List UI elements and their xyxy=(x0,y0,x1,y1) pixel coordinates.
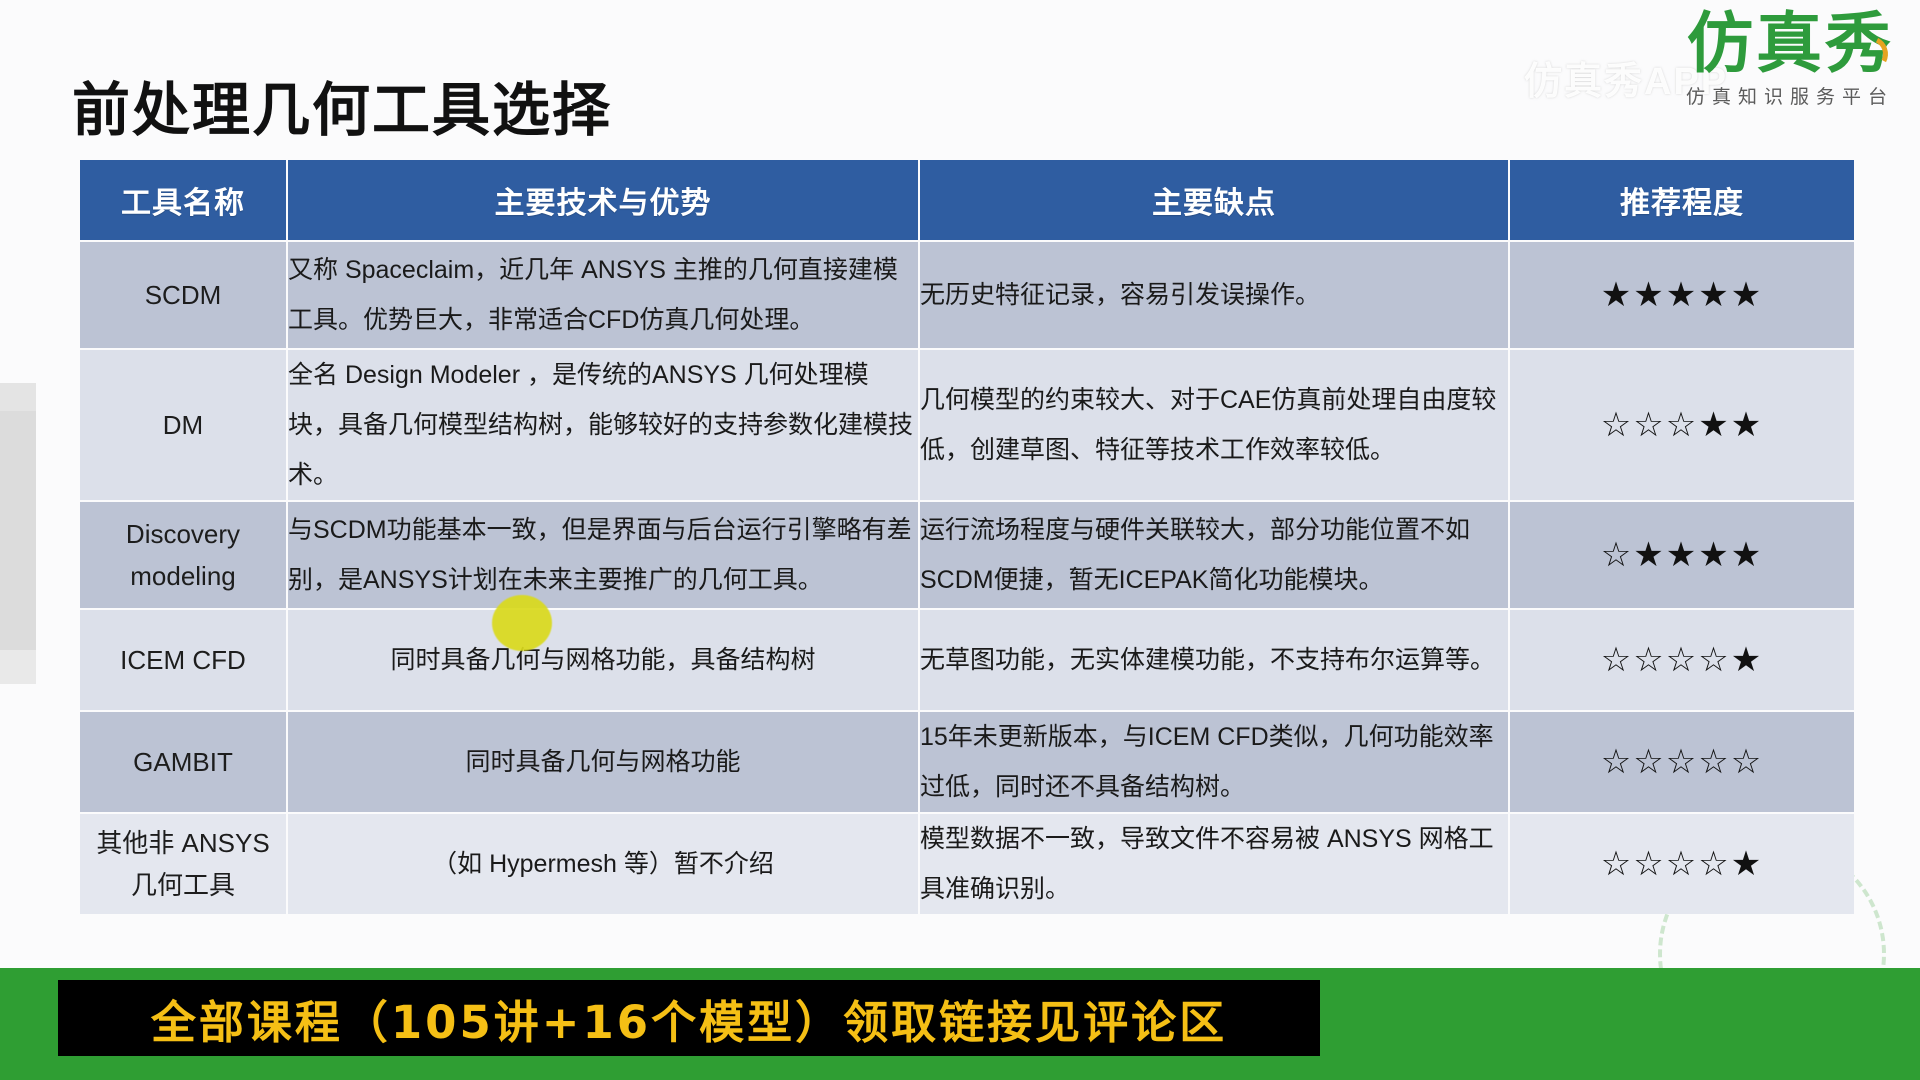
column-header-advantages: 主要技术与优势 xyxy=(288,160,918,240)
table-row: DM 全名 Design Modeler ，是传统的ANSYS 几何处理模块，具… xyxy=(80,350,1854,500)
logo-brand-text: 仿真秀 xyxy=(1687,8,1894,78)
cell-advantages: 与SCDM功能基本一致，但是界面与后台运行引擎略有差别，是ANSYS计划在未来主… xyxy=(288,502,918,608)
cell-disadvantages: 运行流场程度与硬件关联较大，部分功能位置不如SCDM便捷，暂无ICEPAK简化功… xyxy=(920,502,1508,608)
cell-tool-name: Discovery modeling xyxy=(80,502,286,608)
cell-disadvantages: 15年未更新版本，与ICEM CFD类似，几何功能效率过低，同时还不具备结构树。 xyxy=(920,712,1508,812)
cell-disadvantages: 几何模型的约束较大、对于CAE仿真前处理自由度较低，创建草图、特征等技术工作效率… xyxy=(920,350,1508,500)
cell-rating: ☆☆☆☆★ xyxy=(1510,610,1854,710)
geometry-tool-comparison-table: 工具名称 主要技术与优势 主要缺点 推荐程度 SCDM 又称 Spaceclai… xyxy=(78,158,1856,916)
cell-rating: ★★★★★ xyxy=(1510,242,1854,348)
cell-disadvantages: 模型数据不一致，导致文件不容易被 ANSYS 网格工具准确识别。 xyxy=(920,814,1508,914)
table-row: ICEM CFD 同时具备几何与网格功能，具备结构树 无草图功能，无实体建模功能… xyxy=(80,610,1854,710)
player-edge-artifact xyxy=(0,650,36,684)
cell-disadvantages: 无历史特征记录，容易引发误操作。 xyxy=(920,242,1508,348)
cell-tool-name: GAMBIT xyxy=(80,712,286,812)
cell-tool-name: 其他非 ANSYS 几何工具 xyxy=(80,814,286,914)
table-row: Discovery modeling 与SCDM功能基本一致，但是界面与后台运行… xyxy=(80,502,1854,608)
table-header-row: 工具名称 主要技术与优势 主要缺点 推荐程度 xyxy=(80,160,1854,240)
column-header-disadvantages: 主要缺点 xyxy=(920,160,1508,240)
table-body: SCDM 又称 Spaceclaim，近几年 ANSYS 主推的几何直接建模工具… xyxy=(80,242,1854,914)
cell-rating: ☆☆☆☆☆ xyxy=(1510,712,1854,812)
logo-tagline: 仿真知识服务平台 xyxy=(1524,82,1894,109)
cell-advantages: 又称 Spaceclaim，近几年 ANSYS 主推的几何直接建模工具。优势巨大… xyxy=(288,242,918,348)
cell-advantages: 同时具备几何与网格功能，具备结构树 xyxy=(288,610,918,710)
cursor-highlight-blob xyxy=(492,595,552,651)
slide-canvas: 前处理几何工具选择 仿真秀APP 仿真秀 仿真知识服务平台 工具名称 主要技术与… xyxy=(0,0,1920,1080)
promo-banner[interactable]: 全部课程（105讲+16个模型）领取链接见评论区 xyxy=(58,980,1320,1056)
table-row: GAMBIT 同时具备几何与网格功能 15年未更新版本，与ICEM CFD类似，… xyxy=(80,712,1854,812)
cell-tool-name: ICEM CFD xyxy=(80,610,286,710)
promo-strip: 全部课程（105讲+16个模型）领取链接见评论区 xyxy=(0,968,1920,1080)
page-title: 前处理几何工具选择 xyxy=(72,63,612,147)
player-edge-artifact xyxy=(0,411,36,661)
cell-rating: ☆★★★★ xyxy=(1510,502,1854,608)
cell-advantages: 全名 Design Modeler ，是传统的ANSYS 几何处理模块，具备几何… xyxy=(288,350,918,500)
cell-advantages: （如 Hypermesh 等）暂不介绍 xyxy=(288,814,918,914)
promo-banner-text: 全部课程（105讲+16个模型）领取链接见评论区 xyxy=(151,986,1227,1051)
cell-advantages: 同时具备几何与网格功能 xyxy=(288,712,918,812)
table-row: SCDM 又称 Spaceclaim，近几年 ANSYS 主推的几何直接建模工具… xyxy=(80,242,1854,348)
brand-logo: 仿真秀APP 仿真秀 仿真知识服务平台 xyxy=(1524,8,1894,128)
cell-disadvantages: 无草图功能，无实体建模功能，不支持布尔运算等。 xyxy=(920,610,1508,710)
cell-rating: ☆☆☆★★ xyxy=(1510,350,1854,500)
cell-rating: ☆☆☆☆★ xyxy=(1510,814,1854,914)
column-header-recommendation: 推荐程度 xyxy=(1510,160,1854,240)
column-header-tool-name: 工具名称 xyxy=(80,160,286,240)
table-header: 工具名称 主要技术与优势 主要缺点 推荐程度 xyxy=(80,160,1854,240)
cell-tool-name: SCDM xyxy=(80,242,286,348)
table-row: 其他非 ANSYS 几何工具 （如 Hypermesh 等）暂不介绍 模型数据不… xyxy=(80,814,1854,914)
cell-tool-name: DM xyxy=(80,350,286,500)
